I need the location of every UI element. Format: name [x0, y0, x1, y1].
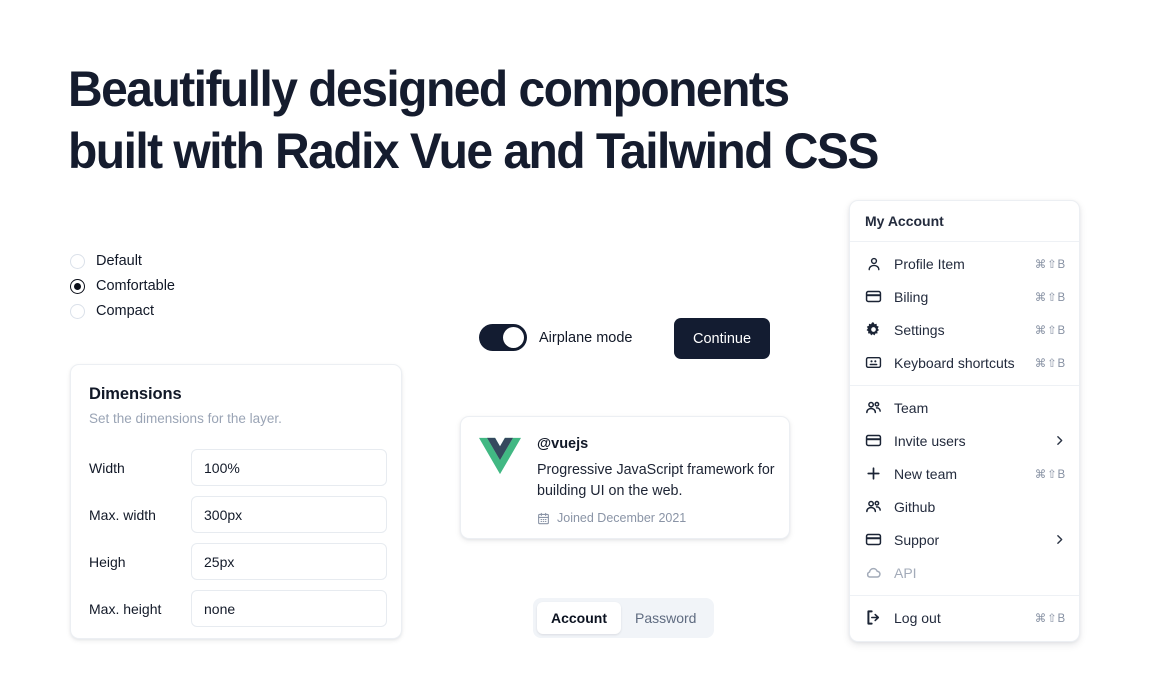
switch-knob-icon: [503, 327, 524, 348]
menu-item-profile[interactable]: Profile Item ⌘⇧B: [850, 247, 1079, 280]
height-input[interactable]: [191, 543, 387, 580]
vuejs-joined-row: Joined December 2021: [537, 511, 782, 525]
field-label: Heigh: [89, 554, 191, 570]
menu-item-label: Suppor: [894, 532, 1041, 548]
radio-group: Default Comfortable Compact: [70, 249, 300, 324]
menu-item-api: API: [850, 556, 1079, 589]
continue-button[interactable]: Continue: [674, 318, 770, 359]
radio-option-label: Comfortable: [96, 279, 175, 294]
credit-card-icon: [865, 288, 882, 305]
radio-option-compact[interactable]: Compact: [70, 299, 300, 324]
menu-item-shortcut: ⌘⇧B: [1035, 356, 1066, 370]
radio-icon: [70, 304, 85, 319]
vuejs-handle: @vuejs: [537, 436, 782, 452]
keyboard-icon: [865, 354, 882, 371]
menu-item-label: Keyboard shortcuts: [894, 355, 1023, 371]
menu-group-session: Log out ⌘⇧B: [850, 596, 1079, 640]
menu-item-label: Invite users: [894, 433, 1041, 449]
menu-item-label: Log out: [894, 610, 1023, 626]
settings-tabs: Account Password: [533, 598, 714, 638]
field-row-max-width: Max. width: [89, 491, 383, 538]
page-root: Beautifully designed components built wi…: [0, 0, 1152, 700]
chevron-right-icon: [1053, 533, 1066, 546]
menu-header-label: My Account: [850, 201, 1079, 241]
menu-item-team[interactable]: Team: [850, 391, 1079, 424]
menu-item-label: Profile Item: [894, 256, 1023, 272]
field-row-width: Width: [89, 444, 383, 491]
hover-card-body: @vuejs Progressive JavaScript framework …: [537, 435, 782, 538]
calendar-icon: [537, 512, 550, 525]
credit-card-icon: [865, 432, 882, 449]
vuejs-description: Progressive JavaScript framework for bui…: [537, 460, 782, 502]
vue-logo-icon: [479, 437, 521, 475]
radio-icon: [70, 254, 85, 269]
menu-item-shortcut: ⌘⇧B: [1035, 323, 1066, 337]
airplane-mode-switch[interactable]: [479, 324, 527, 351]
page-title: Beautifully designed components built wi…: [68, 58, 990, 182]
airplane-mode-label: Airplane mode: [539, 330, 633, 346]
radio-option-comfortable[interactable]: Comfortable: [70, 274, 300, 299]
menu-item-shortcut: ⌘⇧B: [1035, 467, 1066, 481]
logout-icon: [865, 609, 882, 626]
vuejs-hover-card: @vuejs Progressive JavaScript framework …: [460, 416, 790, 539]
dimensions-card-title: Dimensions: [89, 385, 383, 404]
dimensions-card-subtitle: Set the dimensions for the layer.: [89, 411, 383, 426]
width-input[interactable]: [191, 449, 387, 486]
max-height-input[interactable]: [191, 590, 387, 627]
menu-item-support[interactable]: Suppor: [850, 523, 1079, 556]
plus-icon: [865, 465, 882, 482]
field-label: Max. width: [89, 507, 191, 523]
menu-item-keyboard-shortcuts[interactable]: Keyboard shortcuts ⌘⇧B: [850, 346, 1079, 379]
field-row-max-height: Max. height: [89, 585, 383, 632]
field-label: Max. height: [89, 601, 191, 617]
users-icon: [865, 498, 882, 515]
radio-option-label: Default: [96, 254, 142, 269]
menu-item-settings[interactable]: Settings ⌘⇧B: [850, 313, 1079, 346]
menu-item-billing[interactable]: Biling ⌘⇧B: [850, 280, 1079, 313]
menu-group-team: Team Invite users New team ⌘⇧B: [850, 386, 1079, 595]
gear-icon: [865, 321, 882, 338]
menu-item-shortcut: ⌘⇧B: [1035, 611, 1066, 625]
menu-item-log-out[interactable]: Log out ⌘⇧B: [850, 601, 1079, 634]
menu-item-label: Biling: [894, 289, 1023, 305]
credit-card-icon: [865, 531, 882, 548]
airplane-mode-row: Airplane mode: [479, 324, 633, 351]
menu-item-label: API: [894, 565, 1066, 581]
menu-item-label: Github: [894, 499, 1066, 515]
menu-item-new-team[interactable]: New team ⌘⇧B: [850, 457, 1079, 490]
max-width-input[interactable]: [191, 496, 387, 533]
radio-option-label: Compact: [96, 304, 154, 319]
tab-account[interactable]: Account: [537, 602, 621, 634]
users-icon: [865, 399, 882, 416]
page-title-line-2: built with Radix Vue and Tailwind CSS: [68, 120, 990, 182]
menu-group-account: Profile Item ⌘⇧B Biling ⌘⇧B: [850, 242, 1079, 385]
dimensions-card: Dimensions Set the dimensions for the la…: [70, 364, 402, 639]
page-title-line-1: Beautifully designed components: [68, 58, 990, 120]
user-icon: [865, 255, 882, 272]
vuejs-joined-text: Joined December 2021: [557, 511, 686, 525]
menu-item-github[interactable]: Github: [850, 490, 1079, 523]
radio-option-default[interactable]: Default: [70, 249, 300, 274]
menu-item-label: Settings: [894, 322, 1023, 338]
field-label: Width: [89, 460, 191, 476]
radio-icon-selected: [70, 279, 85, 294]
field-row-height: Heigh: [89, 538, 383, 585]
menu-item-label: New team: [894, 466, 1023, 482]
account-dropdown-menu: My Account Profile Item ⌘⇧B Bili: [849, 200, 1080, 642]
chevron-right-icon: [1053, 434, 1066, 447]
menu-item-shortcut: ⌘⇧B: [1035, 257, 1066, 271]
menu-item-invite-users[interactable]: Invite users: [850, 424, 1079, 457]
menu-item-shortcut: ⌘⇧B: [1035, 290, 1066, 304]
cloud-icon: [865, 564, 882, 581]
tab-password[interactable]: Password: [621, 602, 710, 634]
menu-item-label: Team: [894, 400, 1066, 416]
dimensions-field-list: Width Max. width Heigh Max. height: [89, 444, 383, 632]
